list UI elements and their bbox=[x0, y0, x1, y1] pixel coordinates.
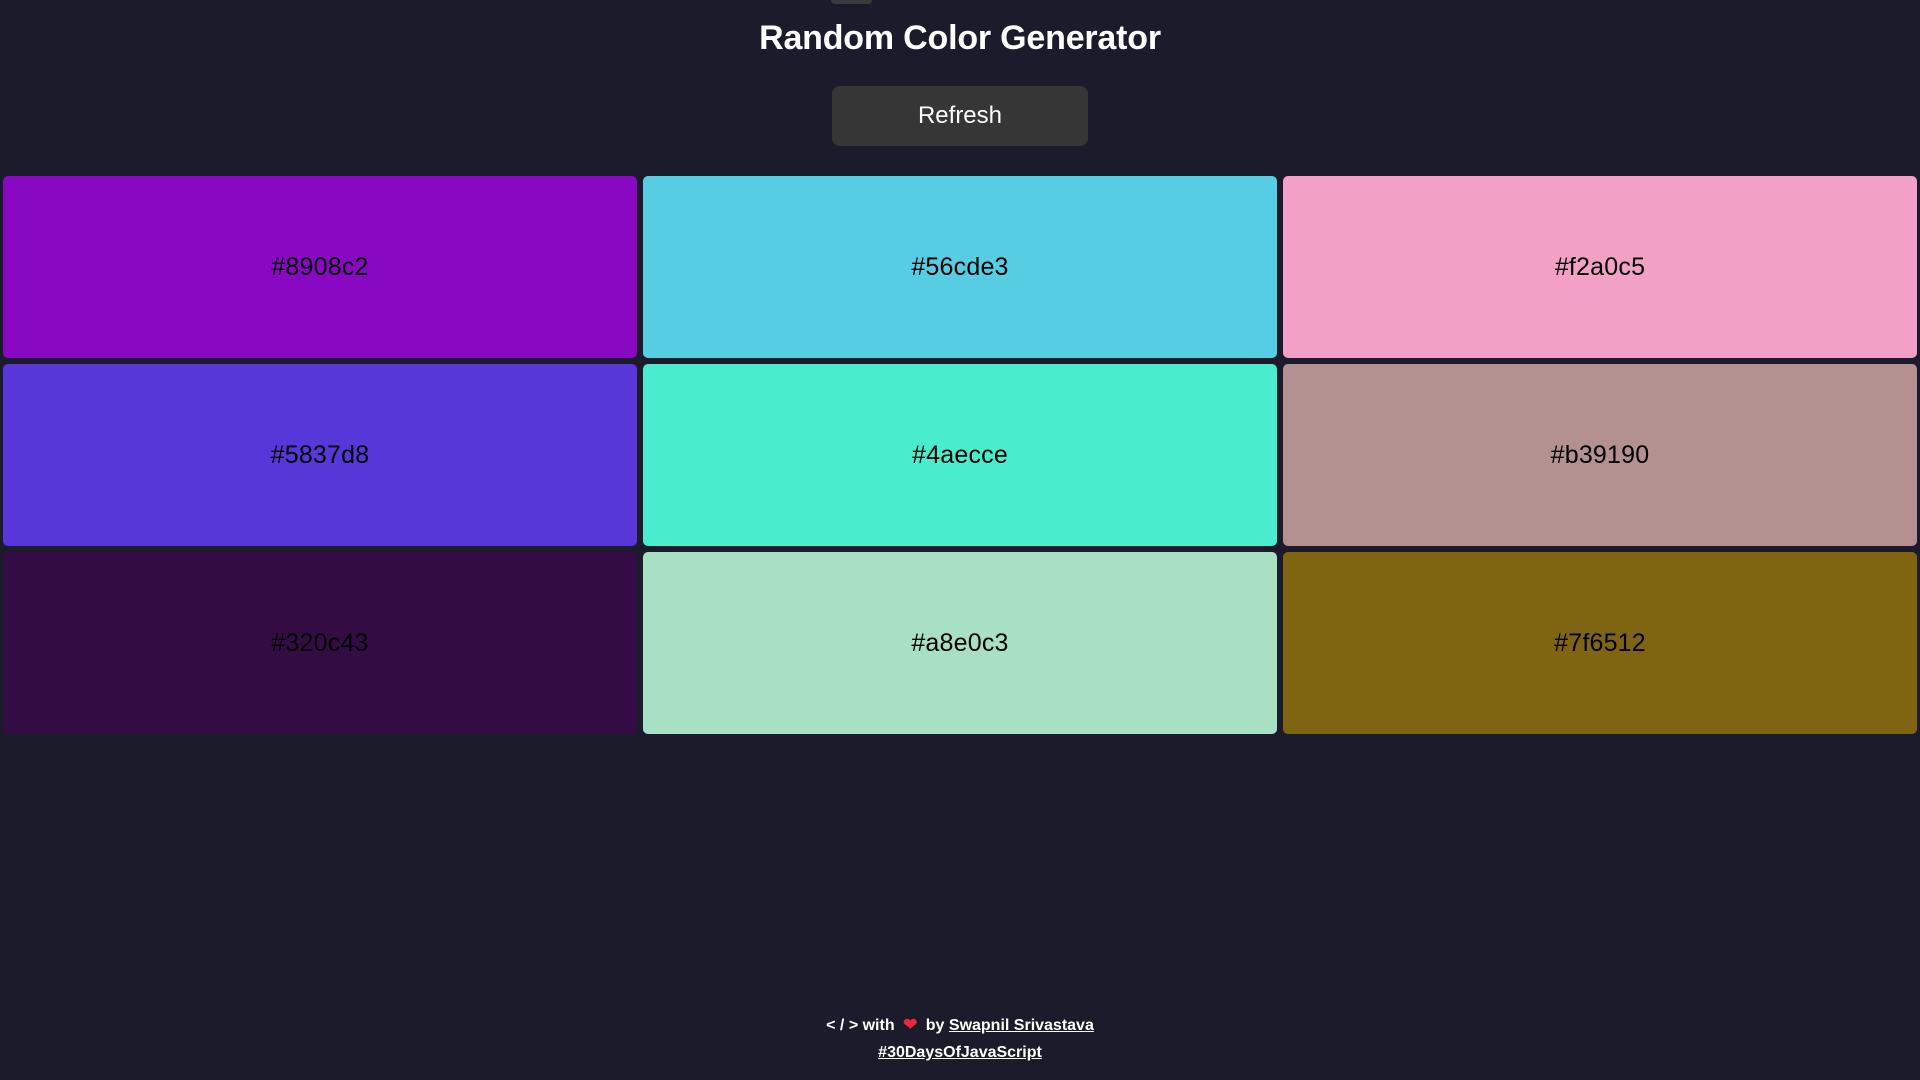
footer-hashtag-line: #30DaysOfJavaScript bbox=[0, 1040, 1920, 1066]
hashtag-link[interactable]: #30DaysOfJavaScript bbox=[878, 1044, 1042, 1061]
color-swatch[interactable]: #7f6512 bbox=[1280, 549, 1920, 737]
color-hex-label: #8908c2 bbox=[271, 253, 368, 282]
footer-by-text: by bbox=[926, 1017, 945, 1034]
app-root: Random Color Generator Refresh #8908c2 #… bbox=[0, 0, 1920, 1080]
refresh-button[interactable]: Refresh bbox=[832, 86, 1088, 146]
color-swatch[interactable]: #8908c2 bbox=[0, 173, 640, 361]
color-swatch[interactable]: #a8e0c3 bbox=[640, 549, 1280, 737]
color-swatch[interactable]: #f2a0c5 bbox=[1280, 173, 1920, 361]
color-hex-label: #320c43 bbox=[271, 629, 368, 658]
color-hex-label: #5837d8 bbox=[271, 441, 370, 470]
color-hex-label: #56cde3 bbox=[911, 253, 1008, 282]
author-link[interactable]: Swapnil Srivastava bbox=[949, 1017, 1094, 1034]
color-swatch[interactable]: #5837d8 bbox=[0, 361, 640, 549]
color-hex-label: #b39190 bbox=[1551, 441, 1650, 470]
color-hex-label: #4aecce bbox=[912, 441, 1008, 470]
color-swatch[interactable]: #4aecce bbox=[640, 361, 1280, 549]
site-footer: < / > with ❤ by Swapnil Srivastava #30Da… bbox=[0, 1011, 1920, 1066]
page-title: Random Color Generator bbox=[759, 18, 1161, 58]
color-swatch[interactable]: #56cde3 bbox=[640, 173, 1280, 361]
color-swatch-grid: #8908c2 #56cde3 #f2a0c5 #5837d8 #4aecce … bbox=[0, 173, 1920, 737]
scrolled-off-element-sliver bbox=[831, 0, 872, 4]
color-hex-label: #a8e0c3 bbox=[911, 629, 1008, 658]
footer-credit-line: < / > with ❤ by Swapnil Srivastava bbox=[0, 1011, 1920, 1039]
color-hex-label: #7f6512 bbox=[1554, 629, 1646, 658]
color-hex-label: #f2a0c5 bbox=[1555, 253, 1645, 282]
code-glyph-text: < / > with bbox=[826, 1017, 894, 1034]
heart-icon: ❤ bbox=[903, 1011, 917, 1039]
color-swatch[interactable]: #b39190 bbox=[1280, 361, 1920, 549]
color-swatch[interactable]: #320c43 bbox=[0, 549, 640, 737]
